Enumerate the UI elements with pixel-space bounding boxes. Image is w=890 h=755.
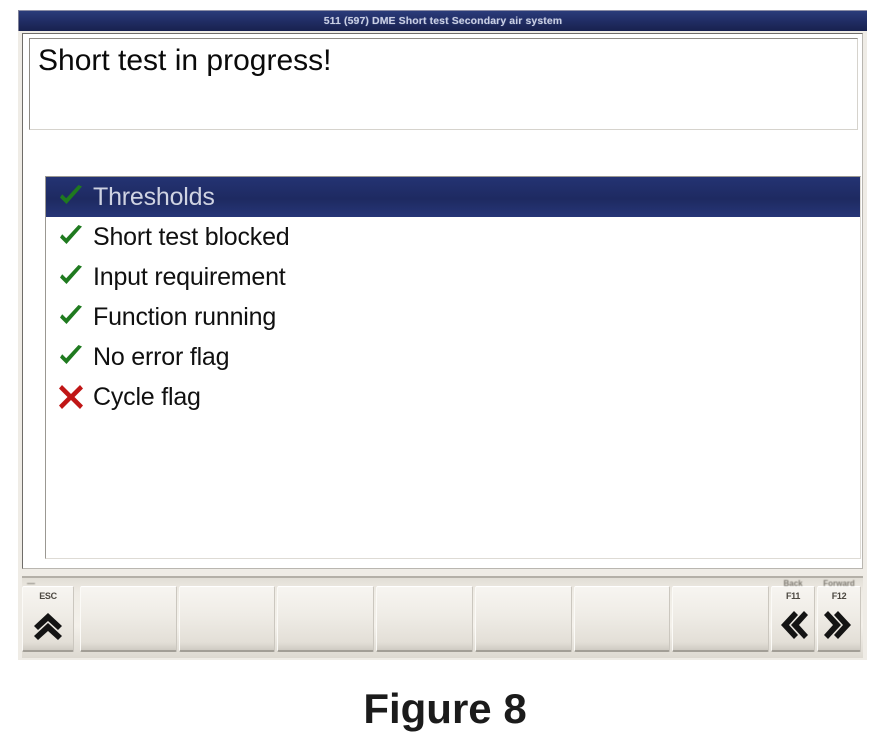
fkey-button-2[interactable]: [179, 586, 276, 652]
fkey-button-6[interactable]: [574, 586, 671, 652]
f11-button[interactable]: BackF11: [771, 586, 815, 652]
tab-marker: —: [27, 579, 35, 588]
function-key-toolbar: —ESCBackF11ForwardF12: [22, 576, 863, 658]
function-key-label: F12: [818, 591, 860, 601]
cross-icon: [49, 384, 93, 410]
window-title: 511 (597) DME Short test Secondary air s…: [19, 15, 867, 27]
list-item[interactable]: No error flag: [46, 337, 860, 377]
list-item-label: Input requirement: [93, 263, 286, 292]
list-item[interactable]: Cycle flag: [46, 377, 860, 417]
tab-marker: Back: [772, 579, 814, 588]
chevron-double-left-icon: [776, 609, 810, 641]
function-key-label: F11: [772, 591, 814, 601]
list-item[interactable]: Input requirement: [46, 257, 860, 297]
function-key-row: —ESCBackF11ForwardF12: [22, 586, 863, 654]
list-item-label: No error flag: [93, 343, 229, 372]
chevron-double-up-icon: [31, 609, 65, 641]
esc-button[interactable]: —ESC: [22, 586, 74, 652]
message-panel: Short test in progress!: [29, 38, 858, 130]
diagnostic-device-window: 511 (597) DME Short test Secondary air s…: [18, 10, 867, 660]
fkey-button-3[interactable]: [277, 586, 374, 652]
check-icon: [49, 304, 93, 330]
title-bar: 511 (597) DME Short test Secondary air s…: [18, 10, 867, 31]
status-message: Short test in progress!: [38, 44, 331, 78]
list-item[interactable]: Function running: [46, 297, 860, 337]
fkey-button-4[interactable]: [376, 586, 473, 652]
fkey-button-1[interactable]: [80, 586, 177, 652]
f12-button[interactable]: ForwardF12: [817, 586, 861, 652]
test-step-list[interactable]: ThresholdsShort test blockedInput requir…: [45, 176, 861, 559]
list-item[interactable]: Thresholds: [46, 177, 860, 217]
fkey-button-5[interactable]: [475, 586, 572, 652]
list-item-label: Short test blocked: [93, 223, 290, 252]
fkey-button-7[interactable]: [672, 586, 769, 652]
content-frame: Short test in progress! ThresholdsShort …: [22, 33, 863, 569]
list-item-label: Thresholds: [93, 183, 215, 212]
check-icon: [49, 344, 93, 370]
window-body: Short test in progress! ThresholdsShort …: [18, 31, 867, 660]
function-key-label: ESC: [23, 591, 73, 601]
list-item-label: Cycle flag: [93, 383, 201, 412]
check-icon: [49, 264, 93, 290]
tab-marker: Forward: [818, 579, 860, 588]
check-icon: [49, 184, 93, 210]
list-item[interactable]: Short test blocked: [46, 217, 860, 257]
figure-caption: Figure 8: [0, 685, 890, 733]
chevron-double-right-icon: [822, 609, 856, 641]
list-item-label: Function running: [93, 303, 276, 332]
check-icon: [49, 224, 93, 250]
